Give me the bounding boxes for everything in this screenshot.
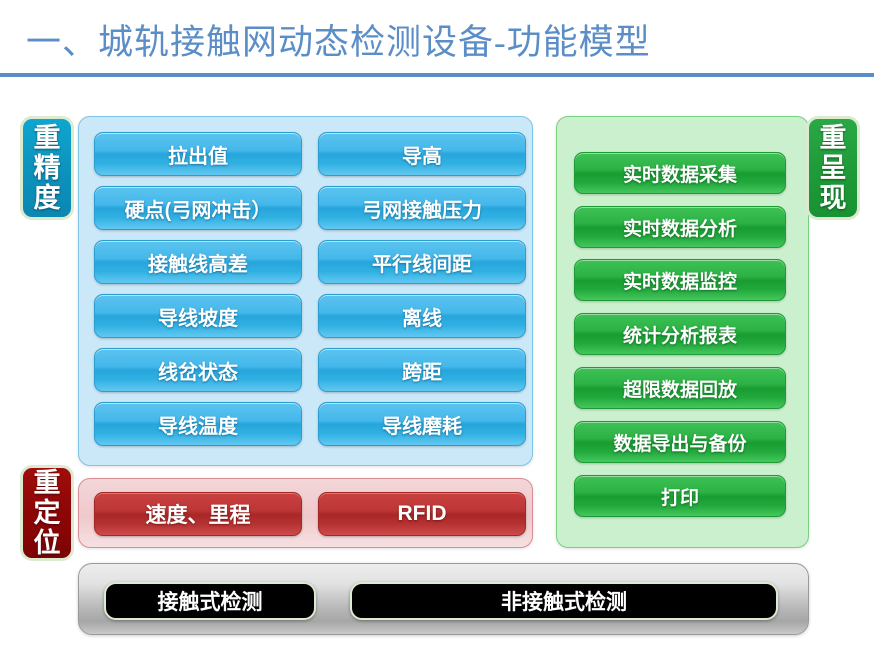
measure-button-label: 平行线间距 [372, 248, 472, 277]
measure-button-label: 拉出值 [168, 140, 228, 169]
measure-button-label: 硬点(弓网冲击） [125, 194, 272, 223]
presentation-button-realtime-monitoring[interactable]: 实时数据监控 [574, 259, 786, 301]
side-label-precision-char-1: 重 [34, 123, 61, 153]
title-divider [0, 73, 874, 77]
measure-button-contact-pressure[interactable]: 弓网接触压力 [318, 186, 526, 230]
measure-button-pullout[interactable]: 拉出值 [94, 132, 302, 176]
presentation-button-label: 打印 [661, 483, 699, 510]
presentation-button-label: 数据导出与备份 [613, 429, 746, 456]
detection-button-label: 非接触式检测 [501, 586, 627, 616]
measure-button-label: 接触线高差 [148, 248, 248, 277]
presentation-button-export-backup[interactable]: 数据导出与备份 [574, 421, 786, 463]
detection-button-non-contact[interactable]: 非接触式检测 [350, 582, 778, 620]
page-title: 一、城轨接触网动态检测设备-功能模型 [26, 14, 651, 65]
detection-button-label: 接触式检测 [158, 586, 263, 616]
measure-button-label: 导线温度 [158, 410, 238, 439]
measure-button-label: 离线 [402, 302, 442, 331]
measure-button-parallel-spacing[interactable]: 平行线间距 [318, 240, 526, 284]
measure-button-crossing-status[interactable]: 线岔状态 [94, 348, 302, 392]
measure-button-guide-height[interactable]: 导高 [318, 132, 526, 176]
side-label-presentation-char-2: 呈 [820, 153, 847, 183]
presentation-button-label: 实时数据采集 [623, 160, 737, 187]
presentation-button-label: 实时数据监控 [623, 267, 737, 294]
locating-button-speed-mileage[interactable]: 速度、里程 [94, 492, 302, 536]
side-label-presentation[interactable]: 重 呈 现 [806, 116, 860, 220]
presentation-button-realtime-analysis[interactable]: 实时数据分析 [574, 206, 786, 248]
measure-button-label: 线岔状态 [158, 356, 238, 385]
measure-button-span[interactable]: 跨距 [318, 348, 526, 392]
presentation-button-label: 统计分析报表 [623, 321, 737, 348]
side-label-positioning[interactable]: 重 定 位 [20, 465, 74, 561]
side-label-positioning-char-3: 位 [34, 528, 61, 558]
measure-button-label: 导高 [402, 140, 442, 169]
measure-button-label: 导线坡度 [158, 302, 238, 331]
measure-button-label: 跨距 [402, 356, 442, 385]
side-label-precision-char-3: 度 [34, 183, 61, 213]
locating-button-label: RFID [398, 502, 447, 526]
measure-button-hardspot[interactable]: 硬点(弓网冲击） [94, 186, 302, 230]
side-label-presentation-char-1: 重 [820, 123, 847, 153]
presentation-button-print[interactable]: 打印 [574, 475, 786, 517]
detection-button-contact[interactable]: 接触式检测 [104, 582, 316, 620]
locating-button-label: 速度、里程 [146, 499, 251, 529]
side-label-positioning-char-2: 定 [34, 498, 61, 528]
side-label-presentation-char-3: 现 [820, 183, 847, 213]
presentation-button-realtime-collection[interactable]: 实时数据采集 [574, 152, 786, 194]
measure-button-wire-temperature[interactable]: 导线温度 [94, 402, 302, 446]
presentation-button-overlimit-playback[interactable]: 超限数据回放 [574, 367, 786, 409]
measure-button-offline[interactable]: 离线 [318, 294, 526, 338]
side-label-positioning-char-1: 重 [34, 468, 61, 498]
measure-button-wire-wear[interactable]: 导线磨耗 [318, 402, 526, 446]
presentation-button-label: 实时数据分析 [623, 214, 737, 241]
measure-button-wire-slope[interactable]: 导线坡度 [94, 294, 302, 338]
presentation-button-statistical-report[interactable]: 统计分析报表 [574, 313, 786, 355]
presentation-button-label: 超限数据回放 [623, 375, 737, 402]
measure-button-label: 导线磨耗 [382, 410, 462, 439]
measure-button-height-difference[interactable]: 接触线高差 [94, 240, 302, 284]
side-label-precision-char-2: 精 [34, 153, 61, 183]
side-label-precision[interactable]: 重 精 度 [20, 116, 74, 220]
locating-button-rfid[interactable]: RFID [318, 492, 526, 536]
measure-button-label: 弓网接触压力 [362, 194, 482, 223]
